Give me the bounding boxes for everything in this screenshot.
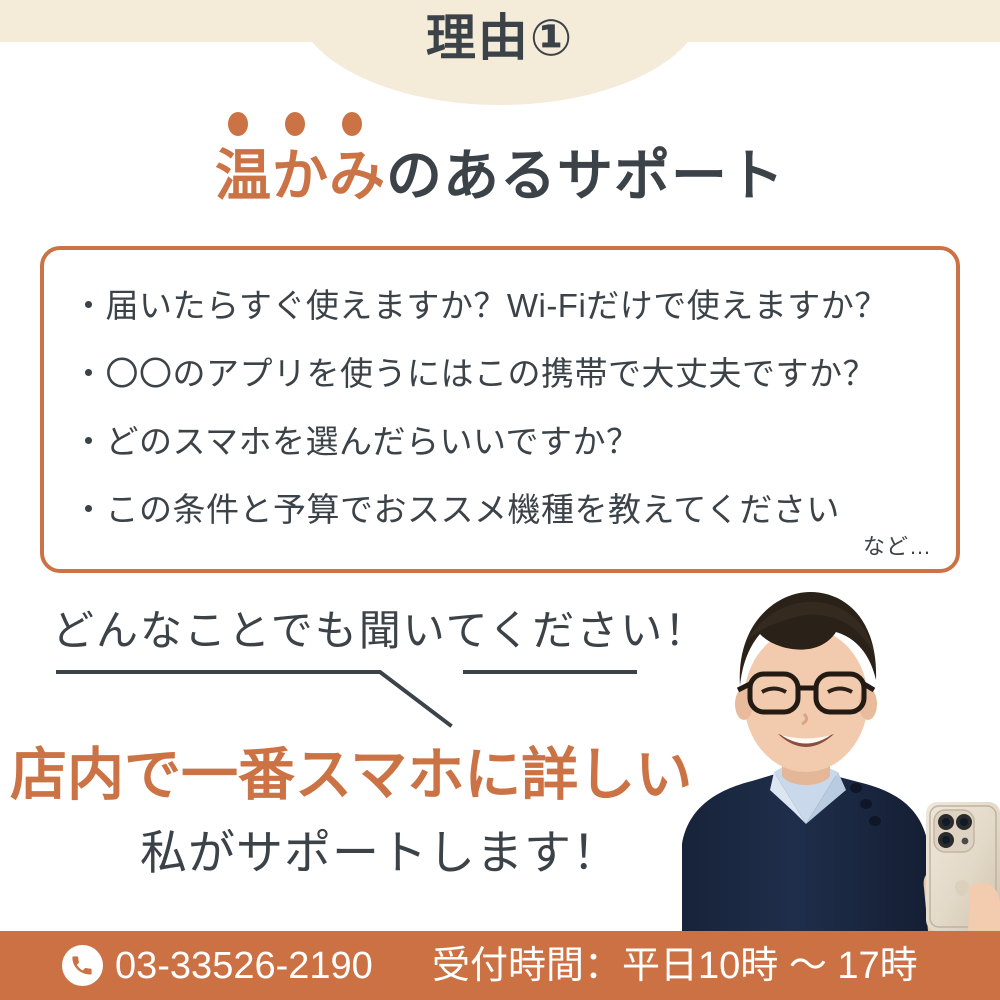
list-item: ・届いたらすぐ使えますか？Wi-Fiだけで使えますか？ [72, 272, 942, 340]
emphasis-dot [228, 112, 248, 136]
list-item: ・どのスマホを選んだらいいですか？ [72, 408, 942, 476]
phone-number-text[interactable]: 03-33526-2190 [115, 944, 373, 988]
customer-questions-box: ・届いたらすぐ使えますか？Wi-Fiだけで使えますか？ ・〇〇のアプリを使うには… [40, 246, 960, 573]
ask-anything-text: どんなことでも聞いてください！ [52, 603, 708, 659]
list-item: ・この条件と予算でおススメ機種を教えてください [72, 476, 942, 544]
subtitle-rest: のあるサポート [386, 144, 785, 207]
contact-footer-bar: 03-33526-2190 受付時間：平日10時 ～ 17時 [0, 931, 1000, 1000]
face [744, 628, 868, 772]
page-title: 理由① [0, 8, 1000, 68]
business-hours-text: 受付時間：平日10時 ～ 17時 [432, 944, 918, 988]
list-item: ・〇〇のアプリを使うにはこの携帯で大丈夫ですか？ [72, 340, 942, 408]
etcetera-label: など… [863, 529, 932, 561]
subtitle-highlight: 温かみ [215, 144, 386, 207]
emphasis-dot [342, 112, 362, 136]
phone-handset-glyph [69, 952, 96, 979]
phone-handset-icon[interactable] [62, 945, 103, 986]
claim-subline: 私がサポートします！ [10, 822, 750, 884]
claim-headline: 店内で一番スマホに詳しい [10, 740, 750, 810]
speech-bubble-tail-icon [40, 665, 660, 735]
three-dots-emphasis-icon [228, 112, 488, 136]
fingers [968, 883, 1000, 931]
section-subtitle: 温かみのあるサポート [0, 140, 1000, 212]
emphasis-dot [285, 112, 305, 136]
question-list: ・届いたらすぐ使えますか？Wi-Fiだけで使えますか？ ・〇〇のアプリを使うには… [72, 272, 942, 544]
